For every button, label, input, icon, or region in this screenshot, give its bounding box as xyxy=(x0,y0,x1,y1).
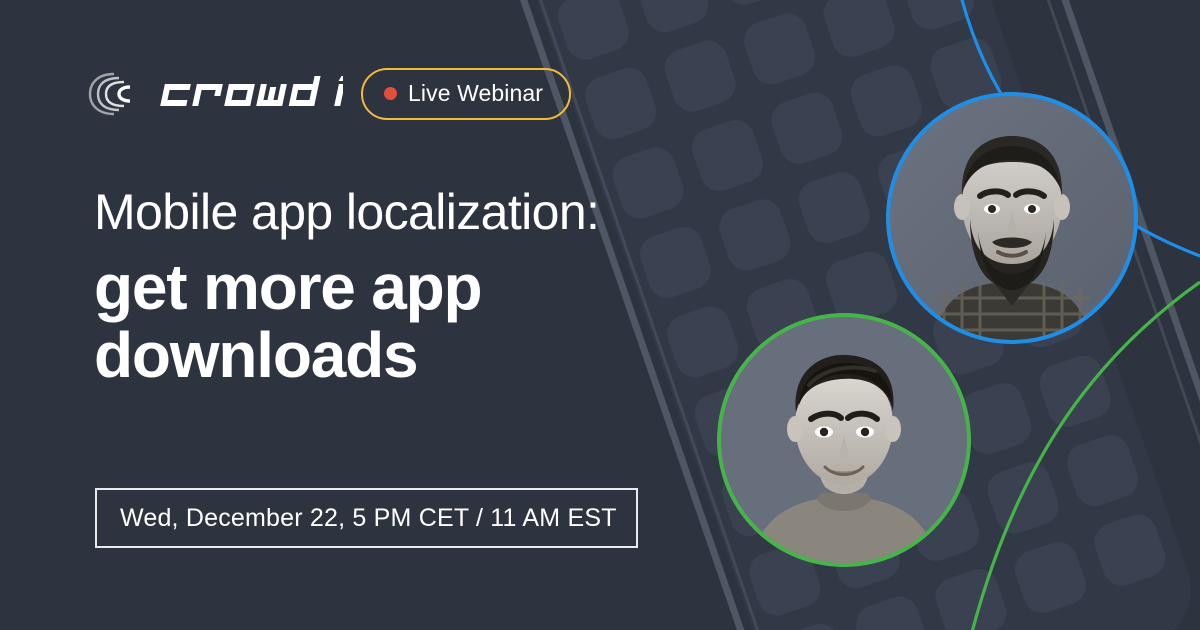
speaker-avatar-bearded xyxy=(886,92,1138,344)
headline-line-2: downloads xyxy=(94,321,599,389)
headline-block: Mobile app localization: get more app do… xyxy=(94,186,599,390)
crowdin-logo[interactable] xyxy=(88,71,343,117)
webinar-banner: Live Webinar Mobile app localization: ge… xyxy=(0,0,1200,630)
header-row: Live Webinar xyxy=(88,68,571,120)
badge-label: Live Webinar xyxy=(408,82,543,105)
headline-line-1: get more app xyxy=(94,253,599,321)
crowdin-swirl-icon xyxy=(88,71,144,117)
schedule-text: Wed, December 22, 5 PM CET / 11 AM EST xyxy=(97,504,617,533)
speaker-avatar-young xyxy=(717,313,971,567)
live-webinar-badge: Live Webinar xyxy=(361,68,571,120)
speaker-photo-young xyxy=(717,313,971,567)
crowdin-wordmark xyxy=(153,74,343,114)
schedule-box: Wed, December 22, 5 PM CET / 11 AM EST xyxy=(95,488,638,548)
headline-subtitle: Mobile app localization: xyxy=(94,186,599,239)
live-dot-icon xyxy=(384,87,397,100)
headline-main: get more app downloads xyxy=(94,253,599,390)
speaker-photo-bearded xyxy=(886,92,1138,344)
